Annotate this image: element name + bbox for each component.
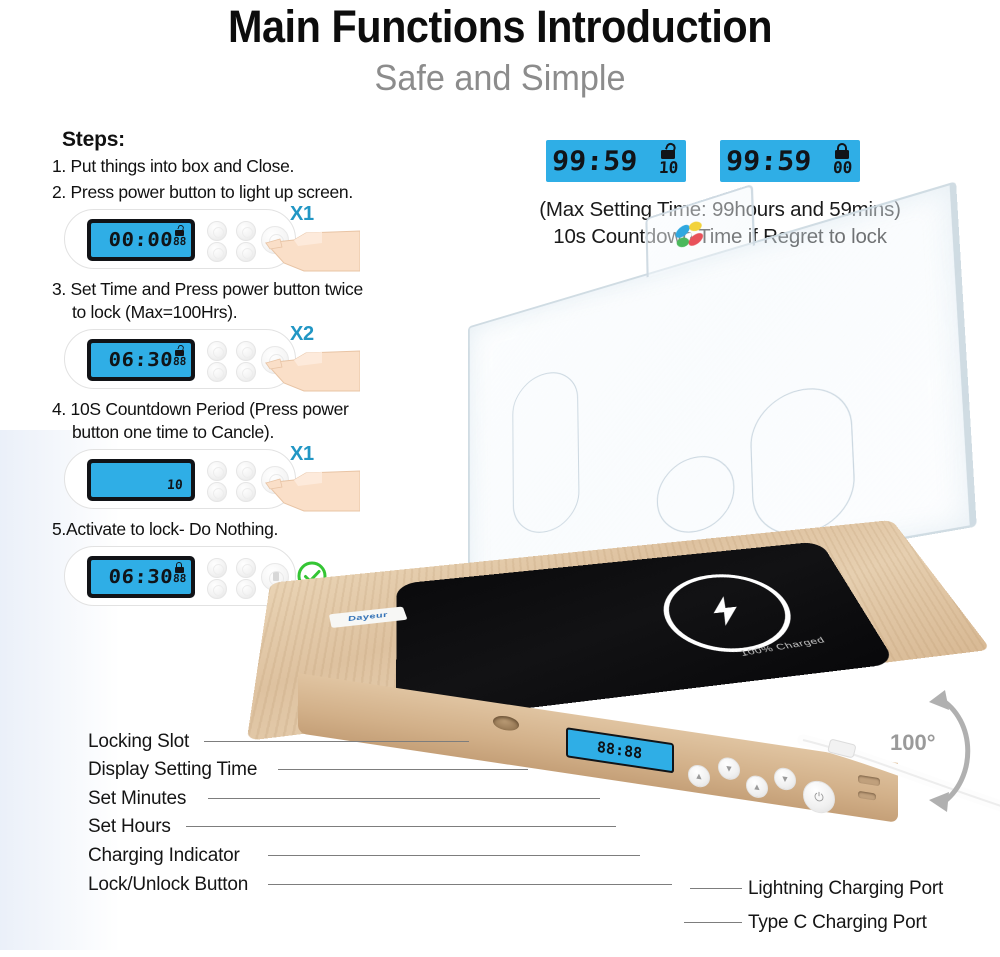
step-1-text: 1. Put things into box and Close. — [52, 155, 432, 178]
step-3-line1: 3. Set Time and Press power button twice — [52, 279, 363, 299]
lcd-locked-display: 99:59 00 — [720, 140, 860, 182]
set-minutes-button[interactable]: ▲ — [688, 763, 710, 788]
setting-time-display: 88:88 — [566, 727, 674, 773]
lcd-screen: 00:00 88 — [91, 223, 191, 257]
set-hours-up-button[interactable] — [207, 461, 227, 481]
lcd-status: 10 — [659, 143, 678, 175]
lcd-status: 88 — [173, 562, 186, 584]
set-hours-down-button[interactable]: ▼ — [774, 766, 796, 791]
callout-charging-indicator: Charging Indicator — [88, 845, 240, 867]
callout-display-setting-time: Display Setting Time — [88, 759, 257, 781]
wooden-base: 100% Charged Dayeur 88:88 ▲ ▼ ▲ ▼ ⏻ — [250, 550, 930, 850]
lcd-seconds: 00 — [832, 160, 852, 175]
lcd-max-time: 99:59 — [725, 148, 812, 175]
lcd-seconds: 88 — [172, 574, 186, 584]
pointing-hand-icon — [264, 221, 360, 273]
lcd-unlocked-display: 99:59 10 — [546, 140, 686, 182]
page-title: Main Functions Introduction — [40, 0, 960, 52]
lcd-max-time: 99:59 — [551, 148, 638, 175]
lcd-screen: 06:30 88 — [91, 560, 191, 594]
lcd-seconds: 88 — [172, 357, 186, 367]
set-minutes-down-button[interactable]: ▼ — [718, 756, 740, 781]
lcd-time: 00:00 — [108, 231, 174, 250]
callout-locking-slot: Locking Slot — [88, 731, 189, 753]
control-panel: 00:00 88 — [64, 209, 296, 269]
lightning-cable — [795, 730, 1000, 850]
set-hours-down-button[interactable] — [207, 362, 227, 382]
lcd-screen: 06:30 88 — [91, 343, 191, 377]
callout-set-minutes: Set Minutes — [88, 788, 186, 810]
lcd-seconds: 88 — [172, 237, 186, 247]
page-subtitle: Safe and Simple — [25, 56, 975, 100]
set-hours-up-button[interactable] — [207, 341, 227, 361]
set-hours-down-button[interactable] — [207, 579, 227, 599]
lcd-status: 00 — [833, 143, 852, 175]
lcd-status: 88 — [173, 345, 186, 367]
set-hours-up-button[interactable] — [207, 558, 227, 578]
face-lcd-digits: 88:88 — [597, 738, 643, 763]
locking-slot — [493, 714, 519, 732]
header: Main Functions Introduction Safe and Sim… — [0, 0, 1000, 100]
lcd-bezel: 06:30 88 — [87, 556, 195, 598]
lcd-bezel: 00:00 88 — [87, 219, 195, 261]
lid-cutout-shape — [512, 365, 580, 539]
set-hours-down-button[interactable] — [207, 242, 227, 262]
set-minutes-up-button[interactable] — [236, 221, 256, 241]
butterfly-logo-icon — [671, 215, 708, 256]
lcd-status: 88 — [173, 225, 186, 247]
press-count-badge: X1 — [290, 203, 314, 226]
lcd-bezel: 10 — [87, 459, 195, 501]
set-hours-down-button[interactable] — [207, 482, 227, 502]
lcd-bezel: 06:30 88 — [87, 339, 195, 381]
set-hours-button[interactable]: ▲ — [746, 774, 768, 799]
set-minutes-down-button[interactable] — [236, 242, 256, 262]
step-2-text: 2. Press power button to light up screen… — [52, 181, 432, 204]
brand-name: Dayeur — [347, 611, 389, 623]
lcd-time: 06:30 — [108, 351, 174, 370]
arrow-button-grid — [207, 221, 259, 261]
step-2-illustration: 00:00 88 — [52, 209, 432, 275]
callout-set-hours: Set Hours — [88, 816, 171, 838]
steps-heading: Steps: — [62, 128, 432, 152]
callout-lock-unlock-button: Lock/Unlock Button — [88, 874, 248, 896]
infographic-page: Main Functions Introduction Safe and Sim… — [0, 0, 1000, 957]
lcd-time: 06:30 — [108, 568, 174, 587]
set-hours-up-button[interactable] — [207, 221, 227, 241]
lcd-screen: 10 — [91, 463, 191, 497]
lcd-seconds: 10 — [658, 160, 678, 175]
lcd-countdown: 10 — [167, 478, 184, 493]
leader-line — [684, 922, 742, 923]
product-illustration: 100% Charged Dayeur 88:88 ▲ ▼ ▲ ▼ ⏻ — [240, 300, 1000, 920]
